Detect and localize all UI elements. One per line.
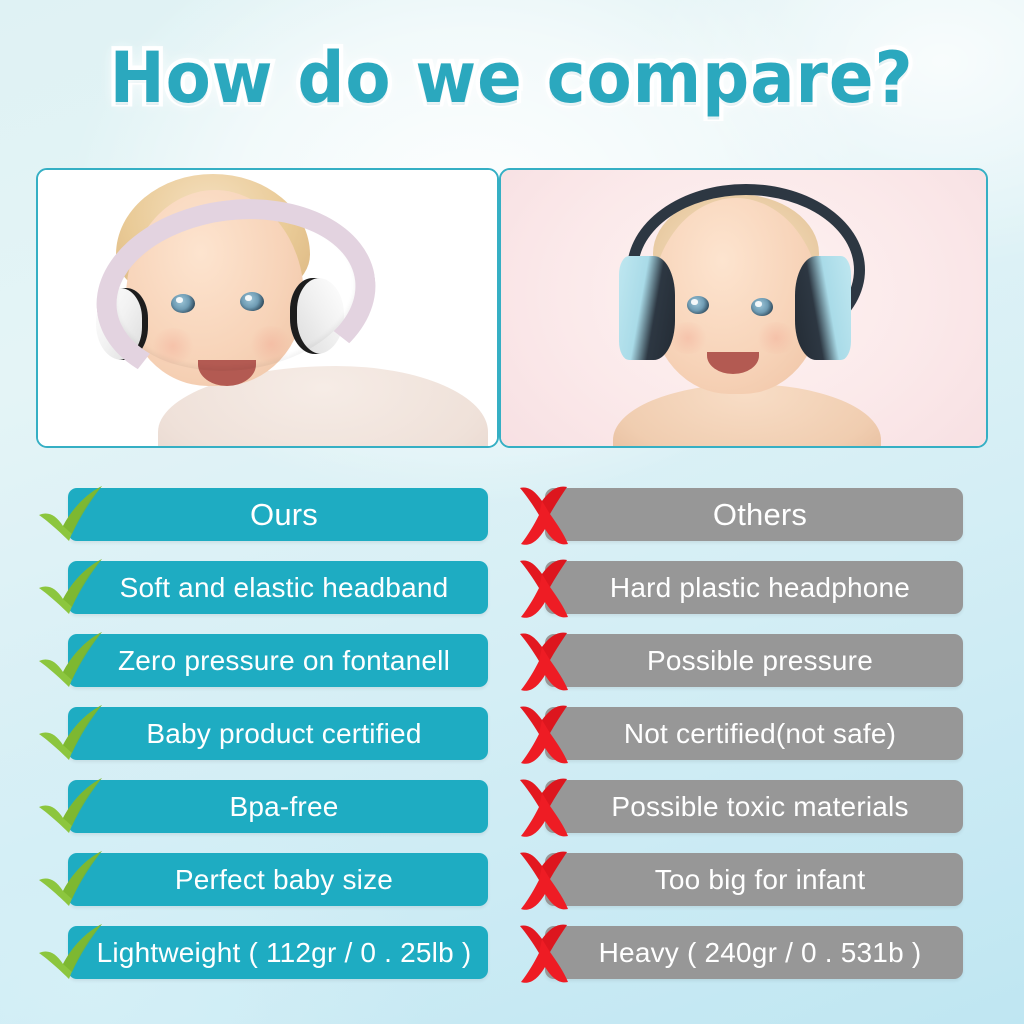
- hard-earmuff-left: [619, 256, 675, 360]
- ours-cell-label: Perfect baby size: [175, 864, 393, 896]
- comparison-table: Ours Others Soft and elastic headband Ha…: [0, 488, 1024, 999]
- table-row: Perfect baby size Too big for infant: [0, 853, 1024, 926]
- others-cell[interactable]: Possible pressure: [545, 634, 963, 687]
- table-row: Lightweight ( 112gr / 0 . 25lb ) Heavy (…: [0, 926, 1024, 999]
- ours-cell[interactable]: Baby product certified: [68, 707, 488, 760]
- ours-cell-label: Ours: [250, 497, 318, 533]
- hard-earmuff-right: [795, 256, 851, 360]
- page-title-container: How do we compare?: [0, 32, 1024, 124]
- table-row: Baby product certified Not certified(not…: [0, 707, 1024, 780]
- others-cell[interactable]: Too big for infant: [545, 853, 963, 906]
- table-row: Soft and elastic headband Hard plastic h…: [0, 561, 1024, 634]
- ours-cell[interactable]: Soft and elastic headband: [68, 561, 488, 614]
- ours-cell-label: Baby product certified: [146, 718, 421, 750]
- others-cell-label: Possible toxic materials: [611, 791, 908, 823]
- table-row: Zero pressure on fontanell Possible pres…: [0, 634, 1024, 707]
- others-cell[interactable]: Hard plastic headphone: [545, 561, 963, 614]
- photo-ours-image: [38, 170, 497, 446]
- ours-cell-label: Bpa-free: [230, 791, 339, 823]
- others-cell[interactable]: Possible toxic materials: [545, 780, 963, 833]
- ours-cell-label: Soft and elastic headband: [120, 572, 449, 604]
- others-cell-label: Heavy ( 240gr / 0 . 531b ): [599, 937, 922, 969]
- ours-cell-label: Zero pressure on fontanell: [118, 645, 450, 677]
- ours-column-header[interactable]: Ours: [68, 488, 488, 541]
- photo-others-image: [501, 170, 986, 446]
- ours-cell[interactable]: Bpa-free: [68, 780, 488, 833]
- others-cell-label: Too big for infant: [655, 864, 866, 896]
- ours-cell[interactable]: Zero pressure on fontanell: [68, 634, 488, 687]
- others-cell[interactable]: Not certified(not safe): [545, 707, 963, 760]
- photo-panel-ours: [36, 168, 499, 448]
- ours-cell-label: Lightweight ( 112gr / 0 . 25lb ): [97, 937, 472, 969]
- others-cell-label: Others: [713, 497, 807, 533]
- photo-panel-others: [499, 168, 988, 448]
- ours-cell[interactable]: Perfect baby size: [68, 853, 488, 906]
- table-row: Bpa-free Possible toxic materials: [0, 780, 1024, 853]
- ours-cell[interactable]: Lightweight ( 112gr / 0 . 25lb ): [68, 926, 488, 979]
- others-cell[interactable]: Heavy ( 240gr / 0 . 531b ): [545, 926, 963, 979]
- page-title: How do we compare?: [110, 43, 914, 113]
- others-cell-label: Hard plastic headphone: [610, 572, 910, 604]
- photo-comparison-panels: [36, 168, 988, 448]
- others-cell-label: Not certified(not safe): [624, 718, 896, 750]
- others-cell-label: Possible pressure: [647, 645, 873, 677]
- poster-canvas: How do we compare?: [0, 0, 1024, 1024]
- table-header-row: Ours Others: [0, 488, 1024, 561]
- others-column-header[interactable]: Others: [545, 488, 963, 541]
